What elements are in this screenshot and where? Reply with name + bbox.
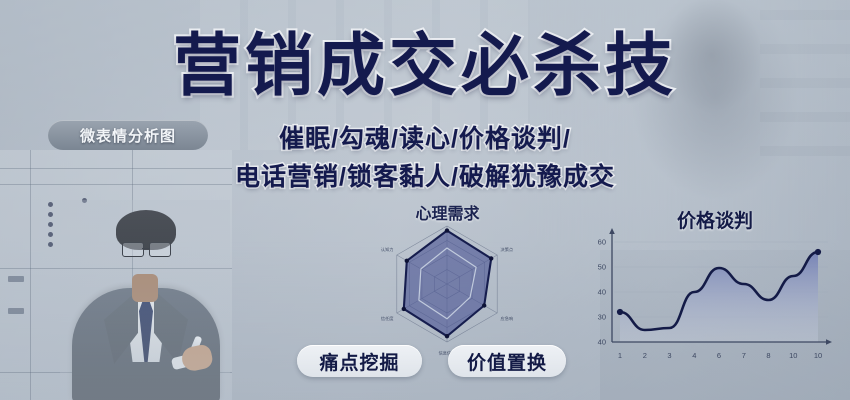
radar-data-point xyxy=(482,303,486,307)
line-chart-svg: 6050403040 12346781010 xyxy=(590,224,840,374)
diagram-chip xyxy=(8,276,24,282)
radar-axis-label: 应急响 xyxy=(501,315,514,322)
x-axis-tick: 10 xyxy=(814,351,822,360)
y-axis-tick: 40 xyxy=(598,288,606,297)
x-axis-tick: 6 xyxy=(717,351,721,360)
page-title: 营销成交必杀技 xyxy=(0,32,850,100)
radar-data-point xyxy=(405,259,409,263)
y-axis-arrow xyxy=(609,228,615,234)
pain-point-mining-button[interactable]: 痛点挖掘 xyxy=(297,345,422,377)
radar-data-point xyxy=(445,228,449,232)
subtitle-line-1: 催眠/勾魂/读心/价格谈判/ xyxy=(0,119,850,155)
diagram-node xyxy=(48,232,53,237)
subtitle-line-2: 电话营销/锁客黏人/破解犹豫成交 xyxy=(0,157,850,193)
radar-axis-label: 信任度 xyxy=(381,315,394,322)
line-chart-endpoint-marker xyxy=(617,309,623,315)
x-axis-tick-labels: 12346781010 xyxy=(618,351,822,360)
presenter-figure xyxy=(60,200,230,400)
y-axis-tick: 50 xyxy=(598,263,606,272)
diagram-node xyxy=(48,212,53,217)
value-exchange-button[interactable]: 价值置换 xyxy=(448,345,566,377)
radar-axis-label: 认知力 xyxy=(381,246,394,253)
line-chart-endpoint-marker xyxy=(815,249,821,255)
diagram-chip xyxy=(8,308,24,314)
line-chart-area xyxy=(620,252,818,342)
presenter-fade-overlay xyxy=(60,200,230,400)
radar-axis-label: 决策点 xyxy=(501,246,514,253)
pain-point-mining-label: 痛点挖掘 xyxy=(319,348,399,375)
x-axis-tick: 1 xyxy=(618,351,622,360)
x-axis-tick: 4 xyxy=(692,351,696,360)
diagram-node xyxy=(48,202,53,207)
line-chart: 价格谈判 6050403040 12346781010 xyxy=(590,196,840,376)
radar-axis-label: 需求 xyxy=(443,218,452,219)
radar-data-point xyxy=(445,334,449,338)
y-axis-tick: 30 xyxy=(598,313,606,322)
x-axis-arrow xyxy=(826,339,832,345)
x-axis-tick: 8 xyxy=(766,351,770,360)
y-axis-tick-labels: 6050403040 xyxy=(598,238,606,347)
x-axis-tick: 7 xyxy=(742,351,746,360)
value-exchange-label: 价值置换 xyxy=(467,348,547,375)
radar-data-point xyxy=(489,256,493,260)
radar-chart-svg: 需求决策点应急响信息信息信任度认知力 xyxy=(330,218,565,360)
y-axis-tick: 40 xyxy=(598,338,606,347)
x-axis-tick: 10 xyxy=(789,351,797,360)
promo-banner: 微表情分析图 营销成交必杀技 催眠/勾魂/读心/价格谈判/ 电话营销/锁客黏人/… xyxy=(0,0,850,400)
y-axis-tick: 60 xyxy=(598,238,606,247)
x-axis-tick: 2 xyxy=(643,351,647,360)
diagram-node xyxy=(48,222,53,227)
radar-series-primary xyxy=(404,231,491,337)
radar-chart: 心理需求 需求决策点应急响信息信息信任度认知力 xyxy=(330,200,565,360)
x-axis-tick: 3 xyxy=(667,351,671,360)
radar-data-point xyxy=(402,307,406,311)
diagram-node xyxy=(48,242,53,247)
